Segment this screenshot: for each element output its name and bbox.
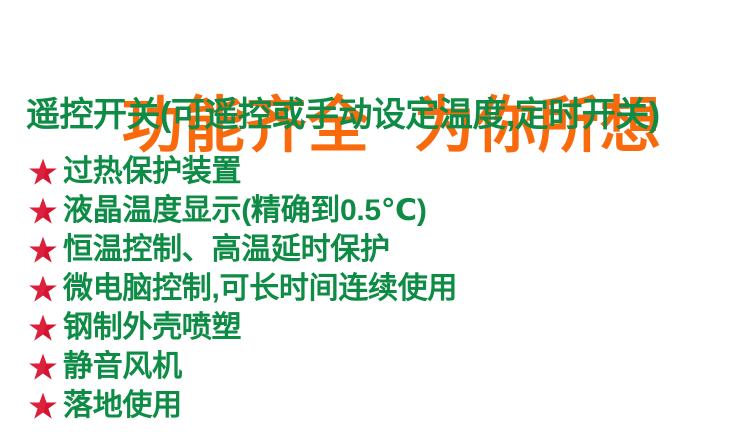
list-item: 恒温控制、高温延时保护 — [26, 230, 716, 269]
list-item-label: 液晶温度显示(精确到0.5℃) — [63, 191, 427, 230]
list-item-label: 钢制外壳喷塑 — [63, 308, 241, 347]
star-icon — [26, 155, 60, 189]
subtitle: 遥控开关(可遥控或手动设定温度,定时开关) — [26, 92, 726, 138]
list-item: 静音风机 — [26, 347, 716, 386]
list-item-label: 过热保护装置 — [63, 152, 241, 191]
list-item: 液晶温度显示(精确到0.5℃) — [26, 191, 716, 230]
headline: 功能齐全为你所想 — [50, 8, 710, 86]
list-item: 过热保护装置 — [26, 152, 716, 191]
list-item-label: 微电脑控制,可长时间连续使用 — [63, 269, 457, 308]
list-item-label: 落地使用 — [63, 386, 182, 425]
star-icon — [26, 272, 60, 306]
star-icon — [26, 194, 60, 228]
feature-list: 过热保护装置 液晶温度显示(精确到0.5℃) 恒温控制、高温延时保护 — [26, 152, 716, 425]
list-item: 钢制外壳喷塑 — [26, 308, 716, 347]
list-item-label: 恒温控制、高温延时保护 — [63, 230, 390, 269]
list-item-label: 静音风机 — [63, 347, 182, 386]
star-icon — [26, 389, 60, 423]
product-feature-poster: 功能齐全为你所想 遥控开关(可遥控或手动设定温度,定时开关) 过热保护装置 液晶… — [0, 0, 730, 442]
star-icon — [26, 350, 60, 384]
star-icon — [26, 233, 60, 267]
list-item: 落地使用 — [26, 386, 716, 425]
list-item: 微电脑控制,可长时间连续使用 — [26, 269, 716, 308]
star-icon — [26, 311, 60, 345]
